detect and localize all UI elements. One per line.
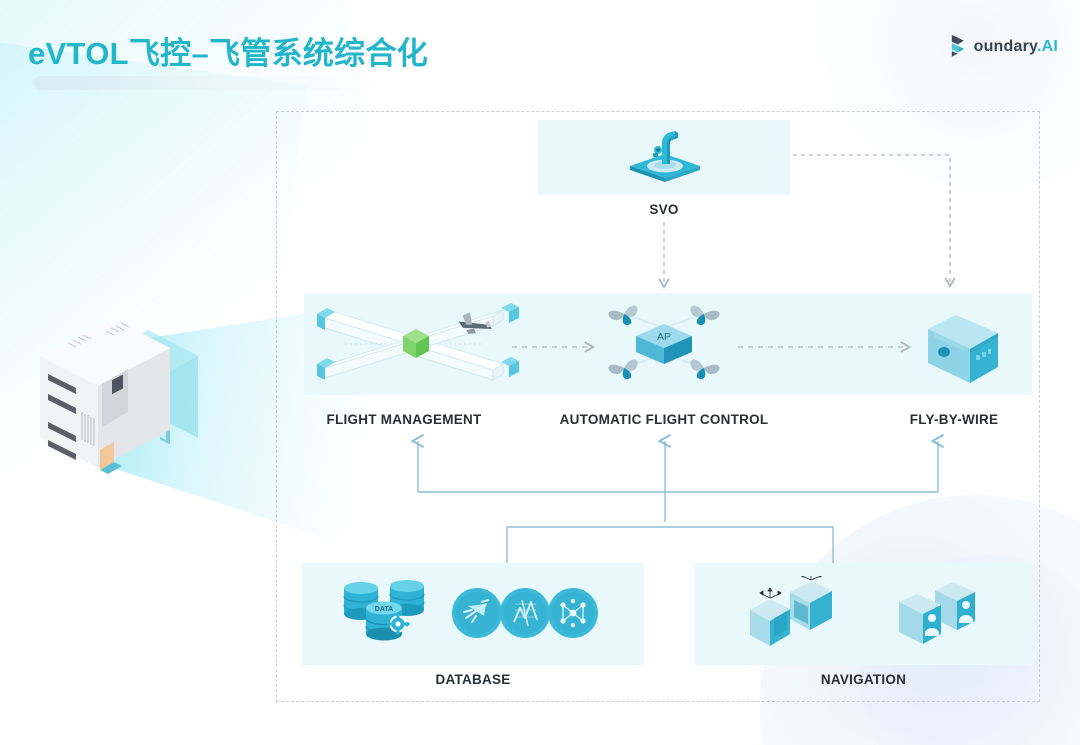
network-nodes-badge-icon	[548, 588, 598, 638]
database-badge-icons	[452, 586, 598, 640]
label-svo: SVO	[538, 202, 790, 217]
crew-panel-icon	[895, 578, 979, 650]
label-fly-by-wire: FLY-BY-WIRE	[834, 412, 1074, 427]
logo-word: oundary	[974, 38, 1037, 55]
slide-canvas: eVTOL飞控–飞管系统综合化 oundary.AI	[0, 0, 1080, 745]
label-automatic-flight-control: AUTOMATIC FLIGHT CONTROL	[544, 412, 784, 427]
avionics-unit-3d-illustration	[20, 290, 220, 480]
brand-logo: oundary.AI	[949, 34, 1058, 60]
label-flight-management: FLIGHT MANAGEMENT	[284, 412, 524, 427]
boundary-b-mark-icon	[949, 34, 971, 60]
label-database: DATABASE	[302, 672, 644, 687]
label-navigation: NAVIGATION	[695, 672, 1032, 687]
ap-body-label: AP	[657, 331, 671, 343]
sensor-cubes-icon	[744, 576, 836, 650]
title-underline	[34, 76, 384, 90]
logo-text: oundary.AI	[974, 39, 1058, 55]
terrain-chart-badge-icon	[500, 588, 550, 638]
aircraft-badge-icon	[452, 588, 502, 638]
database-data-label: DATA	[375, 606, 393, 613]
joystick-icon	[622, 126, 708, 192]
avionics-box-icon	[920, 305, 1006, 391]
logo-ai-suffix: .AI	[1037, 38, 1058, 55]
waypoint-route-icon	[315, 300, 521, 390]
page-title: eVTOL飞控–飞管系统综合化	[28, 28, 428, 73]
quadcopter-ap-icon: AP	[594, 298, 734, 390]
database-stack-icon: DATA	[338, 578, 430, 648]
